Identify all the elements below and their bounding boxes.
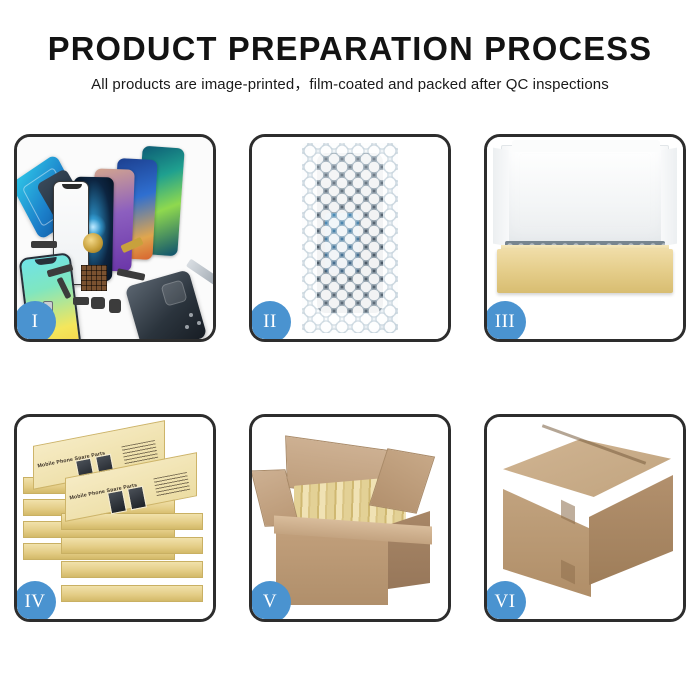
- flex-cable-part: [31, 241, 57, 248]
- step-badge-4: IV: [14, 581, 56, 622]
- button-part: [73, 297, 89, 305]
- speaker-part: [83, 233, 103, 253]
- yellow-box-base: [497, 249, 673, 293]
- step-badge-3: III: [484, 301, 526, 342]
- header: PRODUCT PREPARATION PROCESS All products…: [0, 30, 700, 95]
- box-lid-flap-right: [661, 148, 677, 247]
- box-lid-back: [501, 145, 669, 255]
- step-badge-2: II: [249, 301, 291, 342]
- step-badge-1: I: [14, 301, 56, 342]
- page-subtitle: All products are image-printed，film-coat…: [0, 75, 700, 95]
- process-step-panel-2[interactable]: II: [249, 134, 451, 342]
- process-step-grid: I II III: [14, 134, 686, 638]
- process-step-panel-1[interactable]: I: [14, 134, 216, 342]
- chip-part: [81, 265, 107, 291]
- box-layer: [61, 561, 203, 578]
- page-title: PRODUCT PREPARATION PROCESS: [4, 30, 697, 68]
- step-badge-6: VI: [484, 581, 526, 622]
- product-preparation-infographic: PRODUCT PREPARATION PROCESS All products…: [0, 0, 700, 700]
- box-layer: [61, 585, 203, 602]
- box-lid-flap-left: [493, 148, 509, 247]
- screw-part: [185, 325, 189, 329]
- step-badge-5: V: [249, 581, 291, 622]
- process-step-panel-4[interactable]: Mobile Phone Spare Parts Mobile Phone Sp…: [14, 414, 216, 622]
- box-layer: [61, 537, 203, 554]
- process-step-panel-6[interactable]: VI: [484, 414, 686, 622]
- process-step-panel-3[interactable]: III: [484, 134, 686, 342]
- camera-module-part: [91, 297, 105, 309]
- process-step-panel-5[interactable]: V: [249, 414, 451, 622]
- screw-part: [197, 321, 201, 325]
- screw-part: [189, 313, 193, 317]
- bubble-wrap-texture: [302, 143, 398, 333]
- camera-module-part: [109, 299, 121, 313]
